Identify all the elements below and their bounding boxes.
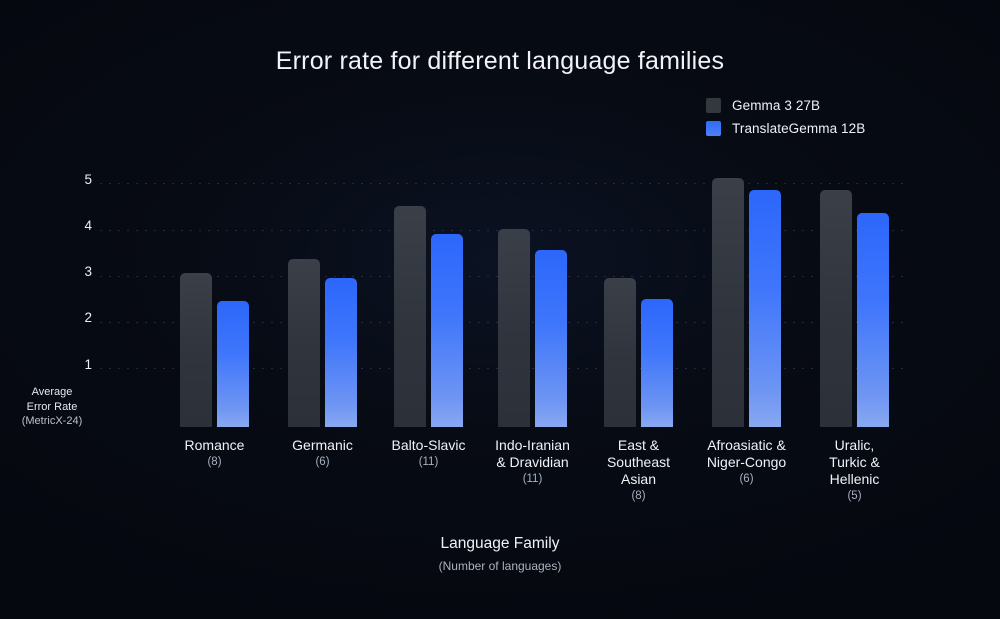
bar-translategemma-3 [535,250,567,427]
category-label-line: Asian [621,471,656,487]
category-label-line: Afroasiatic & [707,437,786,453]
x-axis-title: Language Family (Number of languages) [0,535,1000,573]
chart-slide: Error rate for different language famili… [0,0,1000,619]
category-label-line: Southeast [607,454,670,470]
category-language-count: (5) [780,488,930,504]
bar-translategemma-2 [431,234,463,427]
category-label-line: Germanic [292,437,353,453]
category-label-line: Niger-Congo [707,454,786,470]
x-axis-title-main: Language Family [0,535,1000,553]
bar-gemma-3 [498,229,530,427]
category-label-line: Indo-Iranian [495,437,570,453]
bar-gemma-6 [820,190,852,427]
category-label-6: Uralic,Turkic &Hellenic(5) [780,437,930,504]
category-label-line: Uralic, [835,437,875,453]
category-language-count: (8) [564,488,714,504]
bar-gemma-5 [712,178,744,427]
bar-translategemma-6 [857,213,889,427]
bar-series-container [0,0,1000,619]
bar-translategemma-1 [325,278,357,427]
bar-gemma-2 [394,206,426,427]
category-label-line: Hellenic [830,471,880,487]
bar-gemma-1 [288,259,320,427]
category-label-line: Turkic & [829,454,880,470]
x-axis-title-sub: (Number of languages) [0,559,1000,573]
category-label-line: East & [618,437,659,453]
bar-gemma-4 [604,278,636,427]
category-label-line: Romance [185,437,245,453]
bar-gemma-0 [180,273,212,427]
bar-translategemma-0 [217,301,249,427]
bar-translategemma-4 [641,299,673,428]
bar-translategemma-5 [749,190,781,427]
category-label-line: & Dravidian [496,454,568,470]
category-label-line: Balto-Slavic [392,437,466,453]
